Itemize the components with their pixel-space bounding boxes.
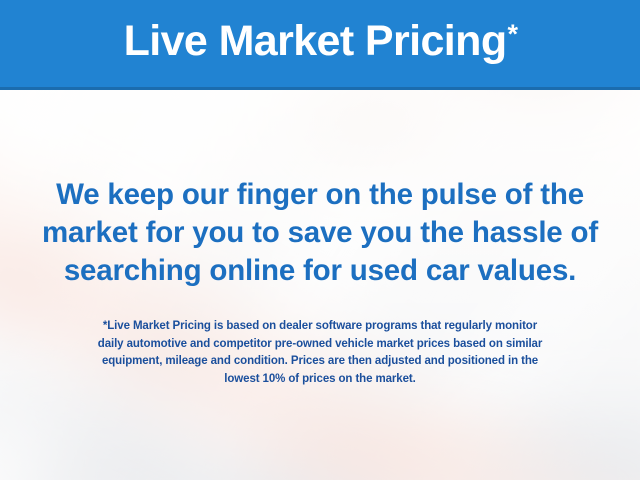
fineprint-line-4: lowest 10% of prices on the market. bbox=[0, 371, 640, 389]
fineprint-line-3: equipment, mileage and condition. Prices… bbox=[0, 353, 640, 371]
header-banner: Live Market Pricing* bbox=[0, 0, 640, 90]
live-market-pricing-slide: Live Market Pricing* We keep our finger … bbox=[0, 0, 640, 480]
fineprint-line-2: daily automotive and competitor pre-owne… bbox=[0, 336, 640, 354]
banner-title-asterisk: * bbox=[508, 19, 518, 49]
fineprint-line-1: *Live Market Pricing is based on dealer … bbox=[0, 318, 640, 336]
banner-title-text: Live Market Pricing bbox=[124, 17, 507, 65]
headline-block: We keep our finger on the pulse of the m… bbox=[0, 176, 640, 290]
fineprint-block: *Live Market Pricing is based on dealer … bbox=[0, 318, 640, 388]
headline-line-1: We keep our finger on the pulse of the bbox=[0, 176, 640, 214]
headline-line-3: searching online for used car values. bbox=[0, 252, 640, 290]
headline-line-2: market for you to save you the hassle of bbox=[0, 214, 640, 252]
banner-title: Live Market Pricing* bbox=[124, 20, 517, 63]
